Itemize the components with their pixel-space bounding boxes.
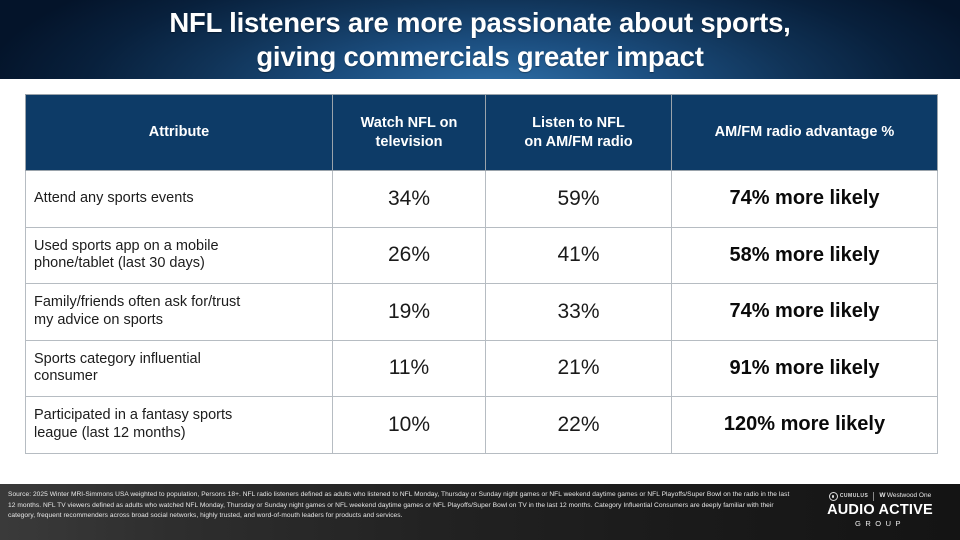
cell-advantage: 91% more likely [672, 340, 938, 397]
cell-advantage: 58% more likely [672, 227, 938, 284]
audio-active-group-logo: CUMULUS W Westwood One AUDIO ACTIVE GROU… [810, 484, 960, 528]
logo-divider [873, 492, 874, 501]
column-header-attribute: Attribute [26, 95, 333, 171]
logo-main-text: AUDIO ACTIVE [810, 503, 950, 518]
cell-listen-radio: 33% [486, 284, 672, 341]
cell-watch-tv: 34% [333, 171, 486, 228]
cell-listen-radio: 22% [486, 397, 672, 454]
column-header-listen-to-nfl-on-am-fm-radio: Listen to NFL on AM/FM radio [486, 95, 672, 171]
cell-attribute: Sports category influential consumer [26, 340, 333, 397]
cell-attribute: Attend any sports events [26, 171, 333, 228]
cell-attribute: Participated in a fantasy sports league … [26, 397, 333, 454]
column-header-watch-nfl-on-television: Watch NFL on television [333, 95, 486, 171]
cell-advantage: 74% more likely [672, 284, 938, 341]
cell-attribute: Family/friends often ask for/trust my ad… [26, 284, 333, 341]
table-row: Sports category influential consumer 11%… [26, 340, 938, 397]
cumulus-wordmark: CUMULUS [840, 494, 869, 499]
cell-watch-tv: 11% [333, 340, 486, 397]
cumulus-circle-icon [829, 492, 838, 501]
table-body: Attend any sports events 34% 59% 74% mor… [26, 171, 938, 454]
table-row: Family/friends often ask for/trust my ad… [26, 284, 938, 341]
westwood-one-logo: W Westwood One [879, 493, 931, 500]
logo-brand-row: CUMULUS W Westwood One [810, 492, 950, 501]
table-row: Used sports app on a mobile phone/tablet… [26, 227, 938, 284]
cell-listen-radio: 59% [486, 171, 672, 228]
page-title: NFL listeners are more passionate about … [169, 6, 790, 73]
cell-listen-radio: 21% [486, 340, 672, 397]
westwood-wordmark: Westwood One [887, 493, 931, 500]
source-note: Source: 2025 Winter MRI-Simmons USA weig… [0, 484, 800, 522]
nfl-attributes-table: Attribute Watch NFL on television Listen… [25, 94, 938, 454]
slide-title-banner: NFL listeners are more passionate about … [0, 0, 960, 79]
cell-advantage: 120% more likely [672, 397, 938, 454]
table-header-row: Attribute Watch NFL on television Listen… [26, 95, 938, 171]
cell-watch-tv: 19% [333, 284, 486, 341]
footer-bar: Source: 2025 Winter MRI-Simmons USA weig… [0, 484, 960, 540]
cell-advantage: 74% more likely [672, 171, 938, 228]
cell-attribute: Used sports app on a mobile phone/tablet… [26, 227, 333, 284]
cell-listen-radio: 41% [486, 227, 672, 284]
westwood-w-icon: W [879, 493, 885, 500]
table-row: Attend any sports events 34% 59% 74% mor… [26, 171, 938, 228]
table-row: Participated in a fantasy sports league … [26, 397, 938, 454]
logo-sub-text: GROUP [810, 519, 950, 528]
table-header: Attribute Watch NFL on television Listen… [26, 95, 938, 171]
cumulus-media-logo: CUMULUS [829, 492, 869, 501]
cell-watch-tv: 10% [333, 397, 486, 454]
cell-watch-tv: 26% [333, 227, 486, 284]
column-header-am-fm-radio-advantage: AM/FM radio advantage % [672, 95, 938, 171]
